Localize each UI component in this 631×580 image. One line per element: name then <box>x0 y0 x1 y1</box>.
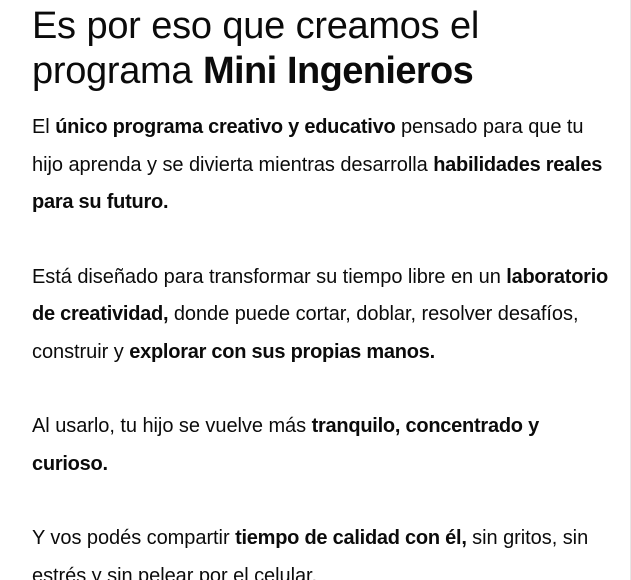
text-segment: Al usarlo, tu hijo se vuelve más <box>32 415 312 437</box>
text-segment: Está diseñado para transformar su tiempo… <box>32 266 506 288</box>
program-name: Mini Ingenieros <box>203 50 473 92</box>
page-title-line-2-prefix: programa <box>32 50 203 92</box>
text-segment: El <box>32 116 55 138</box>
heading-body-spacer <box>32 94 618 109</box>
text-segment-bold: único programa creativo y educativo <box>55 116 395 138</box>
page-title: Es por eso que creamos el programa Mini … <box>32 4 618 94</box>
paragraph-spacer <box>32 483 618 520</box>
paragraph-spacer <box>32 371 618 408</box>
paragraph-tranquilo: Al usarlo, tu hijo se vuelve más tranqui… <box>32 408 618 483</box>
page-root: Es por eso que creamos el programa Mini … <box>0 0 631 580</box>
text-segment-bold: explorar con sus propias manos. <box>129 341 435 363</box>
page-title-line-1: Es por eso que creamos el <box>32 5 479 47</box>
paragraph-laboratorio: Está diseñado para transformar su tiempo… <box>32 259 618 372</box>
article-content: Es por eso que creamos el programa Mini … <box>32 4 618 580</box>
paragraph-programa-unico: El único programa creativo y educativo p… <box>32 109 618 222</box>
paragraph-tiempo-calidad: Y vos podés compartir tiempo de calidad … <box>32 520 618 580</box>
text-segment: Y vos podés compartir <box>32 527 235 549</box>
paragraph-spacer <box>32 222 618 259</box>
text-segment-bold: tiempo de calidad con él, <box>235 527 467 549</box>
page-title-line-2: programa Mini Ingenieros <box>32 50 473 92</box>
